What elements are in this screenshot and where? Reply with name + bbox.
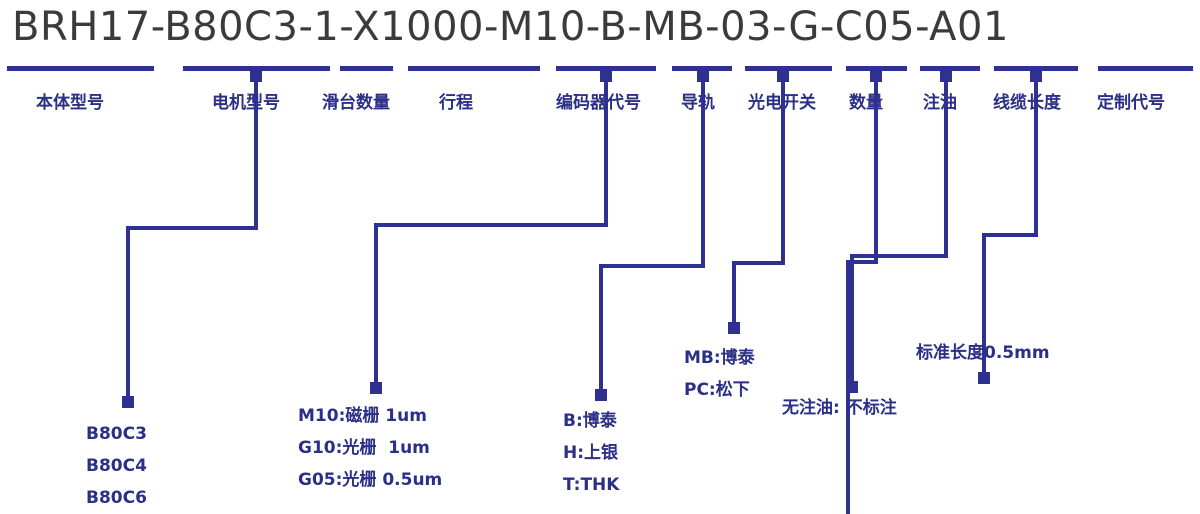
- field-label-quantity: 数量: [849, 88, 883, 113]
- rule-encoder-code: [556, 66, 656, 71]
- encoder-options-line: G05:光栅 0.5um: [298, 464, 442, 496]
- field-label-custom-code: 定制代号: [1097, 88, 1165, 113]
- connector-origin-motor-to-body: [250, 71, 262, 82]
- connector-origin-rail-to-options: [697, 71, 709, 82]
- connector-origin-quantity-to-bottom: [870, 71, 882, 82]
- encoder-options-line: G10:光栅 1um: [298, 432, 442, 464]
- guide-rail-options-line: B:博泰: [563, 405, 619, 437]
- connector-node-motor-to-body: [122, 396, 134, 408]
- rule-cable-length: [994, 66, 1078, 71]
- field-label-cable-length: 线缆长度: [993, 88, 1061, 113]
- rule-quantity: [846, 66, 907, 71]
- field-label-slide-count: 滑台数量: [322, 88, 390, 113]
- rule-slide-count: [340, 66, 393, 71]
- oiling-options-line: 无注油: 不标注: [782, 392, 897, 424]
- body-model-options: B80C3B80C4B80C6: [86, 418, 147, 514]
- field-label-body-model: 本体型号: [36, 88, 104, 113]
- connector-node-encoder-to-options: [370, 382, 382, 394]
- connector-encoder-to-options: [376, 75, 606, 382]
- connector-origin-encoder-to-options: [600, 71, 612, 82]
- guide-rail-options: B:博泰H:上银T:THK: [563, 405, 619, 501]
- connector-origin-cable-to-options: [1030, 71, 1042, 82]
- encoder-options-line: M10:磁栅 1um: [298, 400, 442, 432]
- rule-guide-rail: [672, 66, 732, 71]
- connector-node-cable-to-options: [978, 372, 990, 384]
- model-code-breakdown-diagram: BRH17-B80C3-1-X1000-M10-B-MB-03-G-C05-A0…: [0, 0, 1200, 514]
- guide-rail-options-line: T:THK: [563, 469, 619, 501]
- field-label-photo-switch: 光电开关: [748, 88, 816, 113]
- rule-oiling: [920, 66, 980, 71]
- connector-origin-switch-to-options: [777, 71, 789, 82]
- field-label-motor-model: 电机型号: [212, 88, 280, 113]
- connector-oiling-to-options: [852, 75, 946, 381]
- connector-motor-to-body: [128, 75, 256, 396]
- connector-origin-oiling-to-options: [940, 71, 952, 82]
- cable-length-options-line: 标准长度0.5mm: [916, 337, 1050, 369]
- guide-rail-options-line: H:上银: [563, 437, 619, 469]
- connector-quantity-to-bottom: [848, 75, 876, 514]
- encoder-options: M10:磁栅 1umG10:光栅 1umG05:光栅 0.5um: [298, 400, 442, 496]
- model-code-title: BRH17-B80C3-1-X1000-M10-B-MB-03-G-C05-A0…: [12, 4, 1009, 50]
- connector-node-switch-to-options: [728, 322, 740, 334]
- field-label-stroke: 行程: [439, 88, 473, 113]
- connector-node-rail-to-options: [595, 389, 607, 401]
- cable-length-options: 标准长度0.5mm: [916, 337, 1050, 369]
- field-label-guide-rail: 导轨: [681, 88, 715, 113]
- rule-stroke: [408, 66, 540, 71]
- photo-switch-options: MB:博泰PC:松下: [684, 342, 755, 406]
- photo-switch-options-line: PC:松下: [684, 374, 755, 406]
- rule-body-model: [7, 66, 154, 71]
- oiling-options: 无注油: 不标注: [782, 392, 897, 424]
- connector-cable-to-options: [984, 75, 1036, 372]
- rule-custom-code: [1098, 66, 1193, 71]
- body-model-options-line: B80C3: [86, 418, 147, 450]
- rule-motor-model: [183, 66, 330, 71]
- rule-photo-switch: [745, 66, 832, 71]
- photo-switch-options-line: MB:博泰: [684, 342, 755, 374]
- body-model-options-line: B80C6: [86, 482, 147, 514]
- field-label-oiling: 注油: [923, 88, 957, 113]
- body-model-options-line: B80C4: [86, 450, 147, 482]
- field-label-encoder-code: 编码器代号: [556, 88, 641, 113]
